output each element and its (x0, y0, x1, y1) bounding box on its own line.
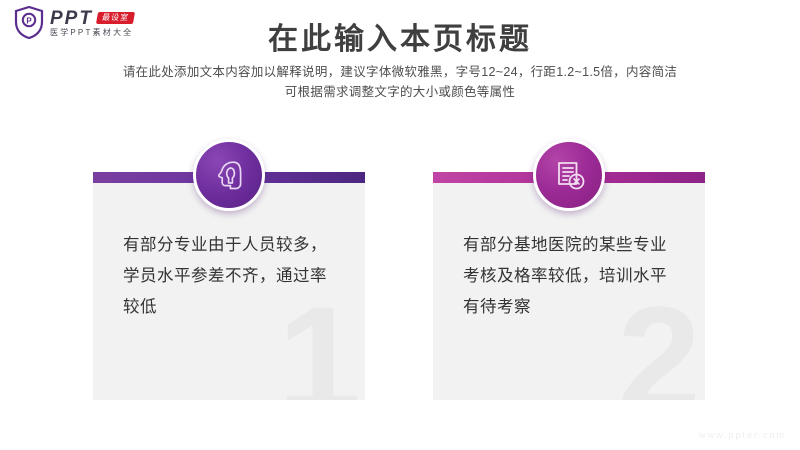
card-2-icon-circle[interactable] (533, 139, 605, 211)
page-subtitle: 请在此处添加文本内容加以解释说明，建议字体微软雅黑，字号12~24，行距1.2~… (0, 62, 800, 102)
slide-canvas: P PPT 最设室 医学PPT素材大全 在此输入本页标题 请在此处添加文本内容加… (0, 0, 800, 450)
document-reject-icon (551, 157, 587, 193)
card-1-text: 有部分专业由于人员较多，学员水平参差不齐，通过率较低 (123, 230, 343, 323)
footer-watermark: www.ppter.com (699, 430, 786, 440)
head-anatomy-icon (211, 157, 247, 193)
card-1-icon-circle[interactable] (193, 139, 265, 211)
subtitle-line-2: 可根据需求调整文字的大小或颜色等属性 (0, 82, 800, 102)
subtitle-line-1: 请在此处添加文本内容加以解释说明，建议字体微软雅黑，字号12~24，行距1.2~… (0, 62, 800, 82)
card-2-text: 有部分基地医院的某些专业考核及格率较低，培训水平有待考察 (463, 230, 683, 323)
cards-row: 1 有部分专业由于人员较多，学员水平参差不齐，通过率较低 2 有部分基地医院的某… (0, 172, 800, 404)
page-title: 在此输入本页标题 (0, 14, 800, 58)
